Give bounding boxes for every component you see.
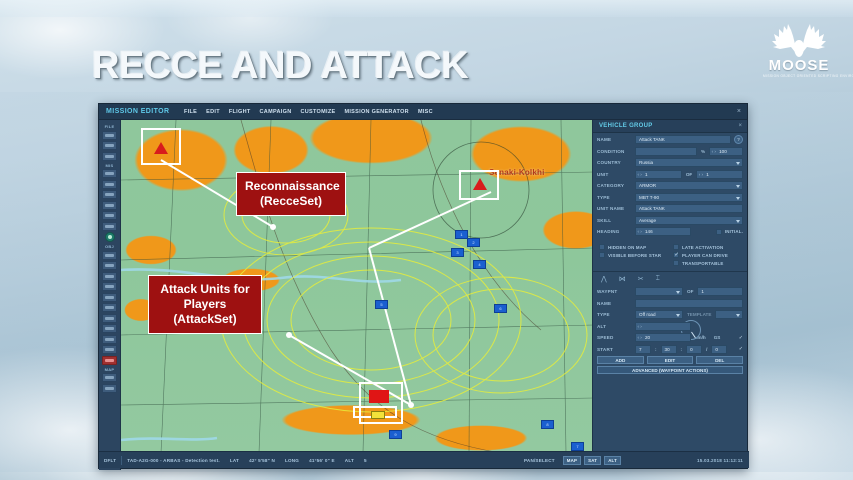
category-label: CATEGORY [597, 183, 635, 188]
close-icon[interactable]: × [737, 108, 741, 115]
initial-checkbox[interactable] [716, 229, 722, 235]
field-row-wp-start: START 7 : 30 : 0 / 0 ✓ [597, 344, 743, 354]
waypoint-label: WAYPNT [597, 289, 635, 294]
callout-recce-line-1: Reconnaissance [245, 179, 337, 194]
waypoint-select[interactable] [635, 287, 683, 296]
waypoint-of-label: OF [687, 289, 693, 294]
remove-icon[interactable] [102, 356, 117, 365]
wp-start-minutes[interactable]: 30 [661, 345, 677, 354]
senaki-group-marker[interactable] [473, 178, 487, 190]
field-row-waypoint: WAYPNT OF 1 [597, 287, 743, 297]
field-row-category: CATEGORY ARMOR [597, 181, 743, 191]
condition-label: CONDITION [597, 149, 635, 154]
panel-title: VEHICLE GROUP [599, 123, 653, 129]
country-select[interactable]: Russia [635, 158, 743, 167]
transportable-label: TRANSPORTABLE [682, 261, 724, 266]
save-mission-icon[interactable] [102, 152, 117, 161]
late-activation-label: LATE ACTIVATION [682, 245, 723, 250]
status-long-label: LONG [280, 458, 304, 463]
unit-total-stepper[interactable]: 1 [696, 170, 743, 179]
toolbar-section-obj: OBJ [99, 244, 120, 249]
failures-icon[interactable] [102, 190, 117, 199]
moose-antlers-icon [771, 18, 827, 58]
waypoint-edit-button[interactable]: EDIT [647, 356, 694, 364]
menu-item-edit[interactable]: EDIT [206, 109, 220, 115]
player-can-drive-label: PLAYER CAN DRIVE [682, 253, 728, 258]
wp-speed-gs-label: GS [714, 335, 721, 340]
heading-label: HEADING [597, 229, 635, 234]
wp-template-label: TEMPLATE [687, 312, 711, 317]
status-mission-name: TAD-A2G-000 - ARBAS - Detection test. [122, 458, 225, 463]
player-can-drive-checkbox[interactable] [673, 252, 679, 258]
window-titlebar: MISSION EDITOR FILE EDIT FLIGHT CAMPAIGN… [99, 104, 747, 120]
checkbox-late-activation[interactable]: LATE ACTIVATION [673, 244, 741, 250]
blue-unit-7[interactable]: 7 [571, 442, 584, 451]
wp-name-input[interactable] [635, 299, 743, 308]
callout-attack: Attack Units for Players (AttackSet) [148, 275, 262, 334]
view-button-map[interactable]: MAP [563, 456, 581, 465]
view-button-alt[interactable]: ALT [604, 456, 621, 465]
field-row-unitname: UNIT NAME Attack TANK [597, 204, 743, 214]
callout-attack-line-2: Players [157, 297, 253, 312]
attack-group-waypoint-marker[interactable] [371, 411, 385, 419]
toolbar-section-file: FILE [99, 124, 120, 129]
wp-start-check-icon[interactable]: ✓ [739, 346, 743, 352]
toolbar-section-map: MAP [99, 367, 120, 372]
groups-icon[interactable] [102, 335, 117, 344]
warehouse-icon[interactable] [102, 314, 117, 323]
start-colon-1: : [655, 347, 657, 352]
blue-unit-3[interactable]: 3 [451, 248, 464, 257]
briefing-icon[interactable] [102, 169, 117, 178]
vehicle-icon[interactable] [102, 282, 117, 291]
type-label: TYPE [597, 195, 635, 200]
help-icon[interactable]: ? [734, 135, 743, 144]
status-alt-label: ALT [340, 458, 359, 463]
start-colon-2: : [681, 347, 683, 352]
blue-unit-5[interactable]: 5 [375, 300, 388, 309]
status-bar: DFLT TAD-A2G-000 - ARBAS - Detection tes… [99, 451, 749, 468]
unit-name-label: UNIT NAME [597, 206, 635, 211]
wp-type-label: TYPE [597, 312, 635, 317]
blue-unit-4[interactable]: 4 [473, 260, 486, 269]
field-row-name: NAME Attack TANK ? [597, 135, 743, 145]
wp-start-label: START [597, 347, 635, 352]
template-icon[interactable] [102, 324, 117, 333]
checkbox-player-can-drive[interactable]: PLAYER CAN DRIVE [673, 252, 741, 258]
wp-speed-check-icon[interactable]: ✓ [739, 335, 743, 341]
menu-bar[interactable]: FILE EDIT FLIGHT CAMPAIGN CUSTOMIZE MISS… [184, 109, 433, 115]
wp-start-hours[interactable]: 7 [635, 345, 651, 354]
waypoint-add-button[interactable]: ADD [597, 356, 644, 364]
waypoint-button-row: ADD EDIT DEL [597, 356, 743, 364]
weather-icon[interactable] [102, 180, 117, 189]
wp-start-ms[interactable]: 0 [711, 345, 727, 354]
callout-recce-line-2: (RecceSet) [245, 194, 337, 209]
status-long-value: 41°56' 0" E [304, 458, 340, 463]
condition-unit-label: % [701, 149, 705, 154]
add-object-icon[interactable] [105, 232, 115, 242]
helicopter-icon[interactable] [102, 261, 117, 270]
field-row-skill: SKILL Average [597, 215, 743, 225]
panel-close-icon[interactable]: × [738, 123, 742, 129]
field-row-wp-name: NAME [597, 298, 743, 308]
callout-recce: Reconnaissance (RecceSet) [236, 172, 346, 216]
callout-attack-line-3: (AttackSet) [157, 312, 253, 327]
visible-before-start-label: VISIBLE BEFORE STAR [608, 253, 661, 258]
checkbox-transportable[interactable]: TRANSPORTABLE [673, 260, 741, 266]
skill-select[interactable]: Average [635, 216, 743, 225]
wp-alt-label: ALT [597, 324, 635, 329]
type-select[interactable]: MBT T-90 [635, 193, 743, 202]
menu-item-campaign[interactable]: CAMPAIGN [260, 109, 292, 115]
page-title: RECCE AND ATTACK [92, 45, 468, 88]
trigger-icon[interactable] [102, 303, 117, 312]
checkbox-visible-before-start[interactable]: VISIBLE BEFORE STAR [599, 252, 673, 258]
attack-group-marker[interactable] [369, 390, 389, 403]
open-mission-icon[interactable] [102, 141, 117, 150]
recce-group-marker[interactable] [154, 142, 168, 154]
wp-speed-stepper[interactable]: 20 [635, 333, 691, 342]
options-icon[interactable] [102, 211, 117, 220]
field-row-unit: UNIT 1 OF 1 [597, 169, 743, 179]
menu-item-mission-generator[interactable]: MISSION GENERATOR [344, 109, 409, 115]
checkbox-hidden-on-map[interactable]: HIDDEN ON MAP [599, 244, 673, 250]
menu-item-customize[interactable]: CUSTOMIZE [300, 109, 335, 115]
advanced-waypoint-actions-button[interactable]: ADVANCED (WAYPOINT ACTIONS) [597, 366, 743, 374]
checkbox-grid: HIDDEN ON MAP VISIBLE BEFORE STAR LATE A… [593, 238, 747, 268]
status-datetime: 15.03.2018 11:12:11 [697, 458, 743, 463]
window-title: MISSION EDITOR [106, 108, 184, 115]
country-label: COUNTRY [597, 160, 635, 165]
name-input[interactable]: Attack TANK [635, 135, 731, 144]
properties-panel: VEHICLE GROUP × NAME Attack TANK ? CONDI… [592, 120, 747, 453]
field-row-country: COUNTRY Russia [597, 158, 743, 168]
waypoint-del-button[interactable]: DEL [696, 356, 743, 364]
add-on-icon[interactable] [102, 345, 117, 354]
ship-icon[interactable] [102, 272, 117, 281]
field-row-heading: HEADING 146 INITIAL. [597, 227, 743, 237]
transportable-checkbox[interactable] [673, 260, 679, 266]
condition-input[interactable] [635, 147, 697, 156]
blue-unit-6[interactable]: 6 [494, 304, 507, 313]
name-label: NAME [597, 137, 635, 142]
unit-label: UNIT [597, 172, 635, 177]
menu-item-misc[interactable]: MISC [418, 109, 433, 115]
status-lat-label: LAT [225, 458, 244, 463]
wp-speed-label: SPEED [597, 335, 635, 340]
logo-wordmark: MOOSE [763, 59, 835, 73]
wp-type-select[interactable]: Off road [635, 310, 683, 319]
wp-start-seconds[interactable]: 0 [686, 345, 702, 354]
toolbar-section-mis: MIS [99, 163, 120, 168]
late-activation-checkbox[interactable] [673, 244, 679, 250]
logo-subtitle: MISSION OBJECT ORIENTED SCRIPTING ENVIRO… [763, 74, 835, 78]
coalition-icon[interactable] [102, 201, 117, 210]
skill-label: SKILL [597, 218, 635, 223]
field-row-condition: CONDITION % 100 [597, 146, 743, 156]
unit-index-stepper[interactable]: 1 [635, 170, 682, 179]
cut-icon[interactable]: ✂ [638, 275, 644, 283]
left-toolbar[interactable]: FILE MIS OBJ MAP [99, 120, 121, 470]
status-alt-value: 5 [359, 458, 372, 463]
measure-icon[interactable] [102, 384, 117, 393]
callout-attack-line-1: Attack Units for [157, 282, 253, 297]
top-band [0, 0, 853, 17]
hidden-on-map-label: HIDDEN ON MAP [608, 245, 646, 250]
paste-icon[interactable]: ⌶ [656, 275, 660, 283]
moose-logo: MOOSE MISSION OBJECT ORIENTED SCRIPTING … [763, 18, 835, 84]
status-lat-value: 42° 5'58" N [244, 458, 280, 463]
heading-stepper[interactable]: 146 [635, 227, 691, 236]
waypoint-total-input[interactable]: 1 [697, 287, 743, 296]
expand-icon[interactable]: ⋈ [619, 275, 626, 283]
menu-item-flight[interactable]: FLIGHT [229, 109, 251, 115]
wp-template-select[interactable] [715, 310, 743, 319]
hidden-on-map-checkbox[interactable] [599, 244, 605, 250]
wp-alt-stepper[interactable] [635, 322, 691, 331]
airplane-icon[interactable] [102, 251, 117, 260]
validate-icon[interactable] [102, 222, 117, 231]
status-mode: PAN/SELECT [519, 458, 560, 463]
new-mission-icon[interactable] [102, 131, 117, 140]
waypoint-icon-row[interactable]: ⋀ ⋈ ✂ ⌶ [593, 272, 747, 285]
view-button-sat[interactable]: SAT [584, 456, 601, 465]
visible-before-start-checkbox[interactable] [599, 252, 605, 258]
collapse-icon[interactable]: ⋀ [601, 275, 607, 283]
blue-unit-9[interactable]: 9 [389, 430, 402, 439]
status-profile[interactable]: DFLT [99, 458, 121, 463]
unit-name-input[interactable]: Attack TANK [635, 204, 743, 213]
condition-percent-stepper[interactable]: 100 [709, 147, 743, 156]
wp-name-label: NAME [597, 301, 635, 306]
menu-item-file[interactable]: FILE [184, 109, 197, 115]
field-row-wp-speed: SPEED 20 km/h GS ✓ [597, 333, 743, 343]
category-select[interactable]: ARMOR [635, 181, 743, 190]
blue-unit-8[interactable]: 8 [541, 420, 554, 429]
unit-of-label: OF [686, 172, 692, 177]
start-slash: / [706, 347, 707, 352]
panel-header: VEHICLE GROUP × [593, 120, 747, 133]
field-row-type: TYPE MBT T-90 [597, 192, 743, 202]
field-row-wp-alt: ALT m [597, 321, 743, 331]
draw-icon[interactable] [102, 373, 117, 382]
field-row-wp-type: TYPE Off road TEMPLATE [597, 310, 743, 320]
initial-label: INITIAL. [725, 229, 743, 234]
static-icon[interactable] [102, 293, 117, 302]
blue-unit-2[interactable]: 2 [467, 238, 480, 247]
